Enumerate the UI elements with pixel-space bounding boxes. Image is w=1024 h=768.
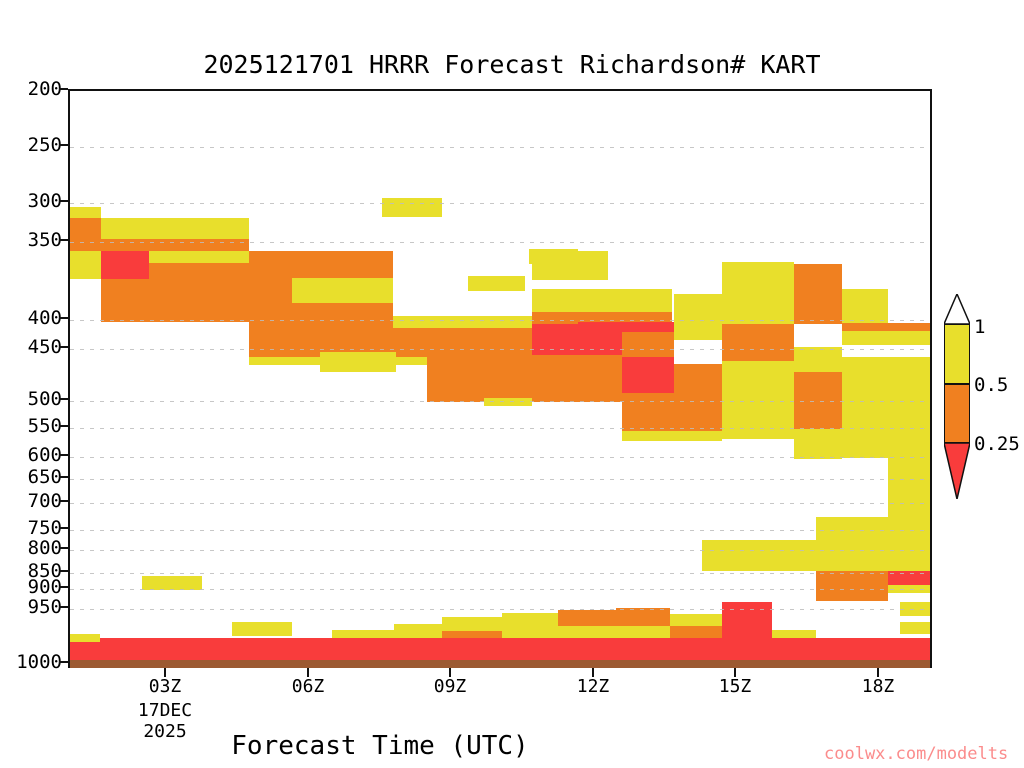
y-axis-tick-label: 750 (0, 517, 62, 539)
heatmap-cell (842, 402, 888, 430)
heatmap-cell (101, 251, 149, 279)
heatmap-cell (722, 399, 794, 429)
heatmap-cell (70, 207, 101, 218)
y-axis-tick-label: 450 (0, 336, 62, 358)
y-axis-tick-mark (59, 239, 68, 241)
x-axis-tick-label: 18Z (862, 676, 895, 697)
y-axis-tick-mark (59, 586, 68, 588)
heatmap-cell (794, 372, 842, 401)
heatmap-cell (794, 429, 842, 459)
x-axis-tick-label: 06Z (292, 676, 325, 697)
heatmap-cell (794, 401, 842, 429)
heatmap-cell (149, 251, 249, 263)
heatmap-cell (622, 431, 722, 441)
y-axis-tick-label: 200 (0, 78, 62, 100)
y-axis-tick-mark (59, 200, 68, 202)
y-axis-tick-mark (59, 425, 68, 427)
gridline-horizontal (70, 320, 930, 321)
heatmap-cell (622, 393, 722, 431)
x-axis-tick-label: 12Z (577, 676, 610, 697)
y-axis-tick-label: 500 (0, 388, 62, 410)
heatmap-cell (484, 347, 532, 369)
heatmap-cell (702, 540, 816, 571)
y-axis-tick-label: 650 (0, 466, 62, 488)
x-axis-tick-mark (449, 668, 451, 677)
y-axis-tick-mark (59, 88, 68, 90)
colorbar-label-0.25: 0.25 (974, 433, 1020, 455)
heatmap-cell (149, 263, 249, 322)
heatmap-cell (794, 347, 842, 372)
y-axis-tick-mark (59, 570, 68, 572)
heatmap-cell (888, 402, 930, 430)
heatmap-cell (842, 323, 930, 331)
y-axis-tick-mark (59, 606, 68, 608)
colorbar-upper-arrow-outline (944, 294, 970, 324)
x-axis-tick-mark (877, 668, 879, 677)
heatmap-cell (616, 608, 670, 626)
heatmap-cell (888, 517, 930, 537)
heatmap-cell (320, 352, 396, 372)
heatmap-cell (70, 218, 101, 251)
heatmap-cell (888, 430, 930, 508)
y-axis-tick-label: 700 (0, 490, 62, 512)
heatmap-cell (468, 276, 525, 291)
heatmap-plot (68, 89, 932, 668)
heatmap-cell (722, 262, 794, 324)
page-title: 2025121701 HRRR Forecast Richardson# KAR… (0, 50, 1024, 79)
y-axis-tick-label: 300 (0, 190, 62, 212)
heatmap-cell (558, 610, 616, 626)
heatmap-cell (816, 593, 888, 601)
x-axis-tick-mark (164, 668, 166, 677)
heatmap-cell (142, 576, 202, 590)
heatmap-cell (722, 361, 794, 399)
y-axis-tick-mark (59, 398, 68, 400)
gridline-horizontal (70, 428, 930, 429)
y-axis-tick-mark (59, 500, 68, 502)
heatmap-cell (382, 198, 442, 217)
y-axis-tick-label: 950 (0, 596, 62, 618)
gridline-horizontal (70, 503, 930, 504)
gridline-horizontal (70, 457, 930, 458)
heatmap-cell (722, 324, 794, 334)
heatmap-cell (674, 294, 722, 340)
y-axis-tick-label: 800 (0, 537, 62, 559)
heatmap-cell (674, 340, 722, 364)
heatmap-cell (427, 381, 484, 402)
heatmap-cell (484, 398, 532, 406)
y-axis-tick-label: 250 (0, 134, 62, 156)
heatmap-cell (900, 622, 930, 634)
heatmap-cell (502, 613, 558, 625)
y-axis-tick-mark (59, 454, 68, 456)
y-axis-tick-mark (59, 317, 68, 319)
y-axis-tick-label: 900 (0, 576, 62, 598)
y-axis-tick-label: 550 (0, 415, 62, 437)
colorbar-lower-arrow (944, 443, 970, 499)
heatmap-cell (70, 251, 101, 279)
gridline-horizontal (70, 573, 930, 574)
heatmap-cell (722, 334, 794, 361)
heatmap-cells-layer (70, 91, 930, 666)
x-axis-tick-mark (734, 668, 736, 677)
x-axis-tick-label: 03Z (149, 676, 182, 697)
gridline-horizontal (70, 530, 930, 531)
x-axis-tick-mark (307, 668, 309, 677)
heatmap-cell (670, 614, 722, 626)
y-axis-tick-mark (59, 476, 68, 478)
colorbar: 1 0.5 0.25 (944, 324, 970, 443)
y-axis-tick-label: 1000 (0, 651, 62, 673)
gridline-horizontal (70, 589, 930, 590)
heatmap-cell (842, 357, 930, 402)
y-axis-tick-mark (59, 346, 68, 348)
gridline-horizontal (70, 203, 930, 204)
heatmap-cell (532, 289, 672, 312)
heatmap-cell (794, 264, 842, 324)
colorbar-label-1: 1 (974, 316, 985, 338)
heatmap-cell (842, 430, 888, 458)
x-axis-title: Forecast Time (UTC) (0, 731, 760, 761)
gridline-horizontal (70, 349, 930, 350)
heatmap-cell (427, 347, 484, 381)
heatmap-cell (816, 517, 888, 571)
x-axis-tick-mark (592, 668, 594, 677)
heatmap-cell (484, 369, 532, 398)
gridline-horizontal (70, 550, 930, 551)
gridline-horizontal (70, 609, 930, 610)
gridline-horizontal (70, 242, 930, 243)
heatmap-cell (232, 622, 292, 636)
x-axis-tick-label: 15Z (719, 676, 752, 697)
x-axis-tick-label: 09Z (434, 676, 467, 697)
gridline-horizontal (70, 401, 930, 402)
gridline-horizontal (70, 479, 930, 480)
gridline-horizontal (70, 147, 930, 148)
y-axis-tick-mark (59, 144, 68, 146)
heatmap-cell (70, 638, 930, 660)
heatmap-cell (442, 617, 502, 631)
colorbar-segment-mid (944, 384, 970, 443)
colorbar-segment-high (944, 324, 970, 384)
y-axis-tick-label: 400 (0, 307, 62, 329)
y-axis-tick-label: 600 (0, 444, 62, 466)
heatmap-cell (842, 331, 930, 345)
watermark: coolwx.com/modelts (824, 744, 1008, 764)
heatmap-cell (393, 316, 532, 328)
heatmap-cell (70, 634, 100, 642)
y-axis-tick-mark (59, 527, 68, 529)
terrain-band (70, 660, 930, 668)
y-axis-tick-mark (59, 661, 68, 663)
heatmap-cell (532, 355, 622, 402)
heatmap-cell (292, 278, 393, 303)
heatmap-cell (149, 218, 249, 239)
heatmap-cell (722, 429, 794, 439)
colorbar-label-0.5: 0.5 (974, 374, 1008, 396)
y-axis-tick-mark (59, 547, 68, 549)
heatmap-cell (842, 289, 888, 323)
heatmap-cell (888, 289, 930, 319)
heatmap-cell (529, 249, 578, 264)
heatmap-cell (101, 239, 249, 251)
y-axis-tick-label: 350 (0, 229, 62, 251)
